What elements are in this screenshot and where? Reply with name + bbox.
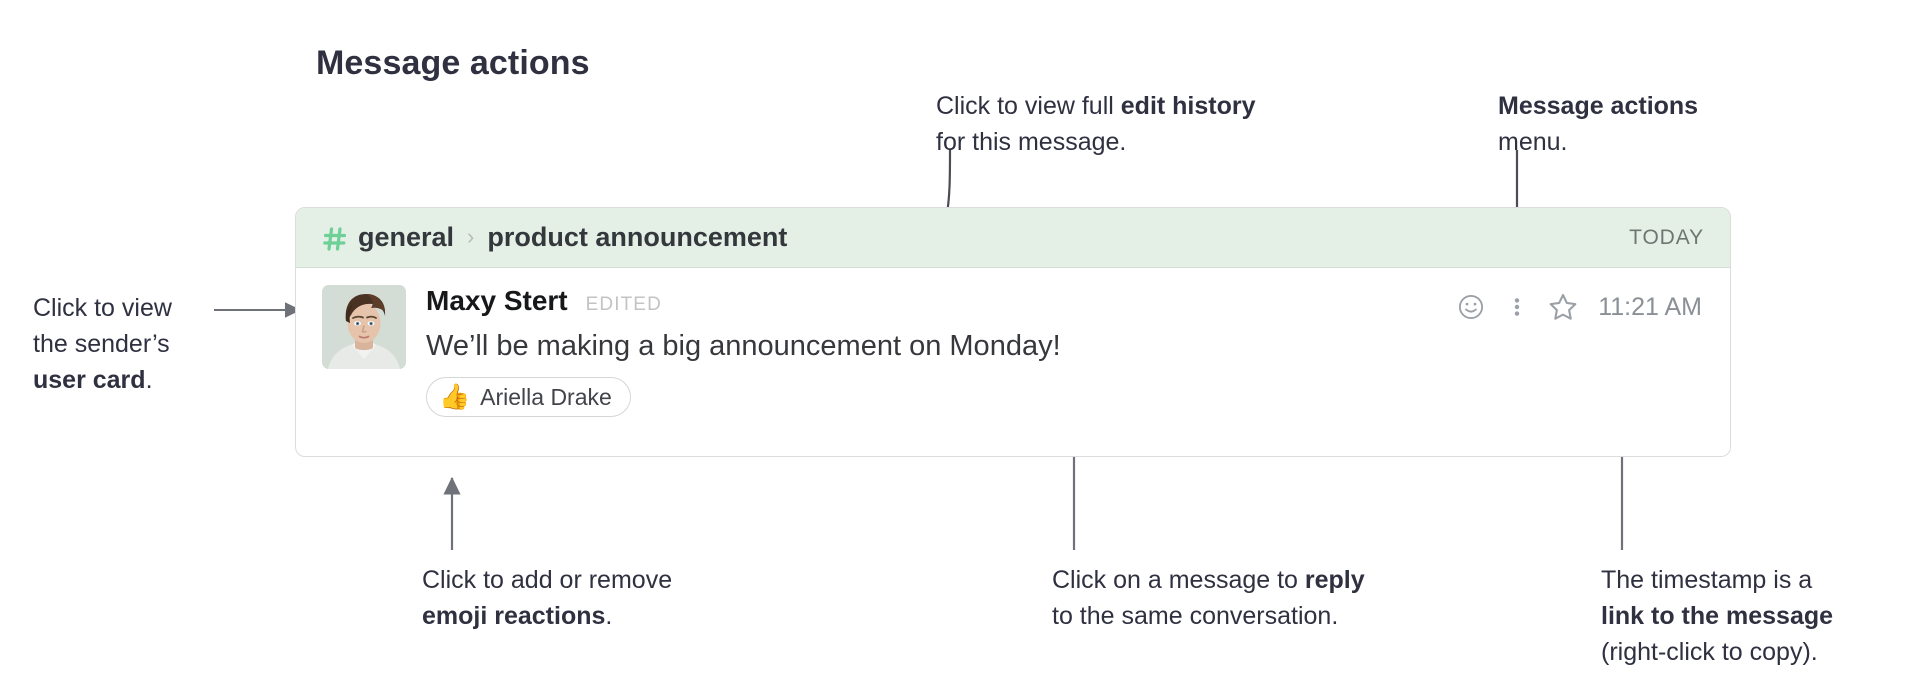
topic-name[interactable]: product announcement	[487, 222, 787, 253]
message-text[interactable]: We’ll be making a big announcement on Mo…	[426, 330, 1704, 363]
page-title: Message actions	[316, 44, 590, 83]
chevron-right-icon: ›	[467, 226, 474, 248]
annotation-edit-history-line2: for this message.	[936, 128, 1126, 156]
sender-name[interactable]: Maxy Stert	[426, 285, 568, 317]
annotation-user-card-line3-suffix: .	[146, 366, 153, 394]
annotation-reply-line1-prefix: Click on a message to	[1052, 566, 1305, 594]
annotation-user-card-line3-bold: user card	[33, 366, 146, 394]
message-timestamp[interactable]: 11:21 AM	[1598, 293, 1702, 322]
reaction-pill[interactable]: 👍 Ariella Drake	[426, 377, 631, 417]
message-card: general › product announcement TODAY	[295, 207, 1731, 457]
annotation-emoji-reactions-line2-suffix: .	[605, 602, 612, 630]
channel-name[interactable]: general	[358, 222, 454, 253]
annotation-actions-menu-line1-bold: Message actions	[1498, 92, 1698, 120]
annotation-timestamp-line1: The timestamp is a	[1601, 566, 1812, 594]
annotation-user-card-line1: Click to view	[33, 294, 172, 322]
reaction-label: Ariella Drake	[480, 384, 612, 411]
avatar[interactable]	[322, 285, 406, 369]
message-actions-menu-icon[interactable]	[1494, 285, 1540, 329]
annotation-edit-history-line1-prefix: Click to view full	[936, 92, 1121, 120]
edited-badge[interactable]: EDITED	[586, 294, 662, 316]
star-icon[interactable]	[1540, 285, 1586, 329]
annotation-user-card-line2: the sender’s	[33, 330, 170, 358]
annotation-reply-line2: to the same conversation.	[1052, 602, 1338, 630]
reaction-row: 👍 Ariella Drake	[426, 377, 1704, 417]
thumbs-up-icon: 👍	[439, 385, 470, 410]
annotation-reply-line1-bold: reply	[1305, 566, 1365, 594]
annotation-emoji-reactions-line2-bold: emoji reactions	[422, 602, 605, 630]
annotation-emoji-reactions: Click to add or remove emoji reactions.	[422, 562, 752, 634]
annotation-timestamp-line2-bold: link to the message	[1601, 602, 1833, 630]
card-header: general › product announcement TODAY	[296, 208, 1730, 268]
annotation-timestamp-link: The timestamp is a link to the message (…	[1601, 562, 1921, 670]
message-actions-row: 11:21 AM	[1448, 285, 1702, 329]
annotation-emoji-reactions-line1: Click to add or remove	[422, 566, 672, 594]
hash-icon	[322, 226, 348, 252]
annotation-actions-menu-line2: menu.	[1498, 128, 1567, 156]
annotation-actions-menu: Message actions menu.	[1498, 88, 1778, 160]
annotation-reply: Click on a message to reply to the same …	[1052, 562, 1452, 634]
annotation-user-card: Click to view the sender’s user card.	[33, 290, 263, 398]
add-reaction-icon[interactable]	[1448, 285, 1494, 329]
annotation-edit-history: Click to view full edit history for this…	[936, 88, 1356, 160]
annotation-edit-history-line1-bold: edit history	[1121, 92, 1256, 120]
date-label: TODAY	[1629, 226, 1704, 250]
annotation-timestamp-line3: (right-click to copy).	[1601, 638, 1818, 666]
